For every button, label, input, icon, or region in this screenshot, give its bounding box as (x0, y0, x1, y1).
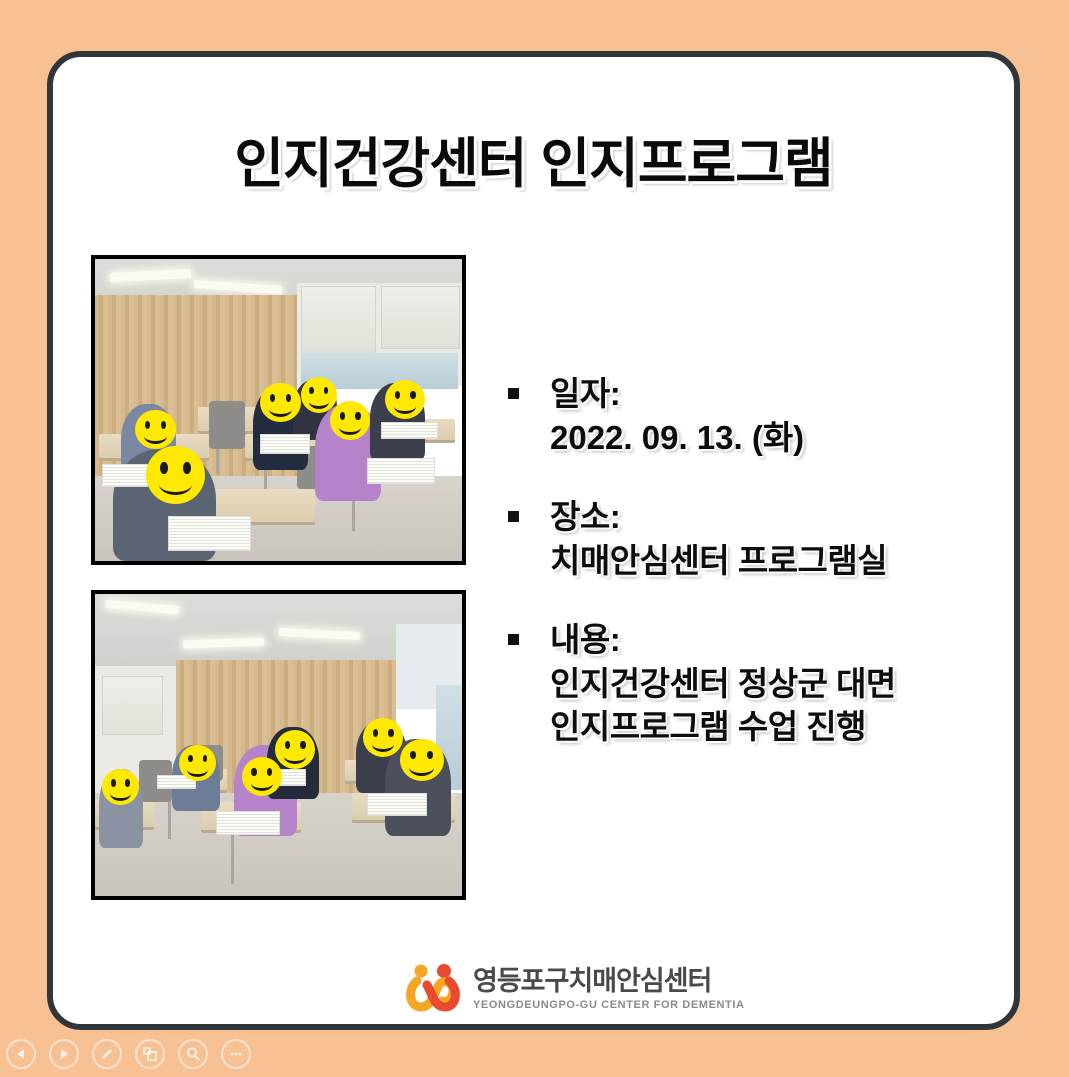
classroom-photo-bottom (91, 590, 466, 900)
logo-korean-text: 영등포구치매안심센터 (473, 968, 745, 995)
search-button[interactable] (178, 1039, 208, 1069)
info-item-place: 장소: 치매안심센터 프로그램실 (508, 495, 978, 582)
bottom-toolbar (0, 1030, 1069, 1077)
face-mask-icon (146, 446, 205, 503)
face-mask-icon (301, 377, 338, 413)
face-mask-icon (275, 730, 315, 769)
previous-button[interactable] (6, 1039, 36, 1069)
triangle-left-icon (14, 1047, 28, 1061)
next-button[interactable] (49, 1039, 79, 1069)
info-value-content-line2: 인지프로그램 수업 진행 (550, 705, 978, 749)
face-mask-icon (363, 718, 403, 757)
duplicate-button[interactable] (135, 1039, 165, 1069)
face-mask-icon (135, 410, 175, 449)
more-button[interactable] (221, 1039, 251, 1069)
face-mask-icon (179, 745, 216, 781)
bullet-square-icon (508, 511, 519, 522)
dementia-center-logo-icon (405, 963, 461, 1015)
pencil-icon (99, 1046, 115, 1062)
copy-icon (142, 1046, 158, 1062)
face-mask-icon (385, 380, 425, 419)
info-label-place: 장소: (550, 495, 978, 539)
info-value-place: 치매안심센터 프로그램실 (550, 539, 978, 583)
triangle-right-icon (57, 1047, 71, 1061)
magnifier-icon (185, 1046, 201, 1062)
logo-english-text: YEONGDEUNGPO-GU CENTER FOR DEMENTIA (473, 1000, 745, 1011)
face-mask-icon (400, 739, 444, 781)
info-label-content: 내용: (550, 618, 978, 662)
classroom-photo-top (91, 255, 466, 565)
edit-button[interactable] (92, 1039, 122, 1069)
info-label-date: 일자: (550, 372, 978, 416)
organization-logo: 영등포구치매안심센터 YEONGDEUNGPO-GU CENTER FOR DE… (405, 963, 745, 1015)
bullet-square-icon (508, 388, 519, 399)
info-item-content: 내용: 인지건강센터 정상군 대면 인지프로그램 수업 진행 (508, 618, 978, 749)
info-item-date: 일자: 2022. 09. 13. (화) (508, 372, 978, 459)
info-value-date: 2022. 09. 13. (화) (550, 416, 978, 460)
content-card: 인지건강센터 인지프로그램 (47, 51, 1020, 1030)
ellipsis-icon (228, 1046, 244, 1062)
info-list: 일자: 2022. 09. 13. (화) 장소: 치매안심센터 프로그램실 내… (508, 372, 978, 785)
info-value-content-line1: 인지건강센터 정상군 대면 (550, 662, 978, 706)
bullet-square-icon (508, 634, 519, 645)
page-title: 인지건강센터 인지프로그램 (53, 119, 1014, 198)
face-mask-icon (260, 383, 300, 422)
